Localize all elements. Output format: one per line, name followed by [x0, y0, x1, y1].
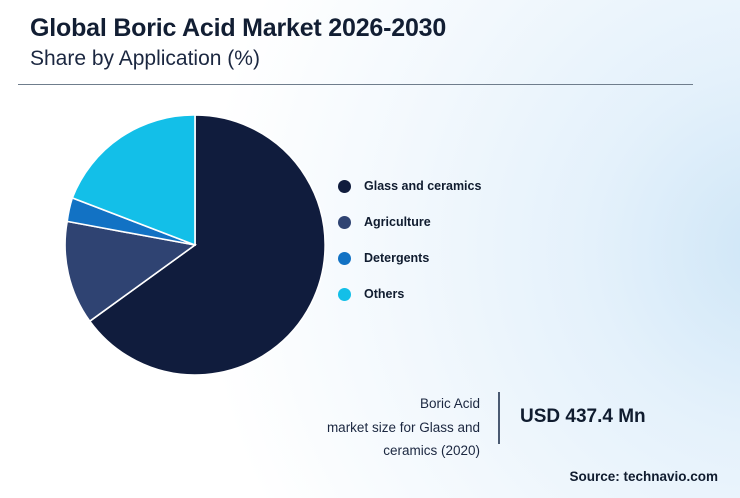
page-title: Global Boric Acid Market 2026-2030	[30, 14, 690, 44]
title-block: Global Boric Acid Market 2026-2030 Share…	[30, 14, 690, 71]
legend-item-glass-and-ceramics[interactable]: Glass and ceramics	[338, 168, 568, 204]
callout-description: Boric Acid market size for Glass and cer…	[300, 392, 480, 463]
callout-divider	[498, 392, 500, 444]
callout-line-2: market size for Glass and ceramics (2020…	[300, 416, 480, 463]
legend-item-others[interactable]: Others	[338, 276, 568, 312]
callout-value: USD 437.4 Mn	[520, 392, 646, 428]
legend-label: Detergents	[364, 251, 429, 265]
callout-block: Boric Acid market size for Glass and cer…	[300, 392, 700, 463]
pie-chart-svg	[60, 110, 330, 380]
legend-color-swatch-icon	[338, 180, 351, 193]
legend: Glass and ceramics Agriculture Detergent…	[338, 168, 568, 312]
legend-label: Glass and ceramics	[364, 179, 481, 193]
legend-color-swatch-icon	[338, 252, 351, 265]
legend-color-swatch-icon	[338, 288, 351, 301]
legend-label: Agriculture	[364, 215, 431, 229]
source-label: Source: technavio.com	[569, 469, 718, 484]
legend-label: Others	[364, 287, 404, 301]
title-divider	[18, 84, 693, 85]
callout-line-1: Boric Acid	[300, 392, 480, 416]
pie-chart	[60, 110, 330, 380]
legend-item-agriculture[interactable]: Agriculture	[338, 204, 568, 240]
legend-color-swatch-icon	[338, 216, 351, 229]
page-subtitle: Share by Application (%)	[30, 46, 690, 71]
chart-page: Global Boric Acid Market 2026-2030 Share…	[0, 0, 740, 498]
legend-item-detergents[interactable]: Detergents	[338, 240, 568, 276]
